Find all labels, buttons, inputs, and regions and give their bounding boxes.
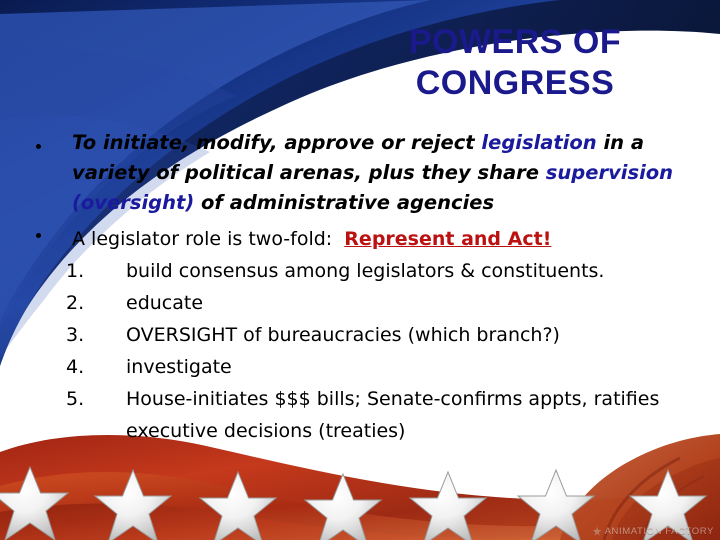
slide-title: POWERS OF CONGRESS [330, 22, 700, 105]
list-item-number: 2. [96, 287, 126, 319]
bullet-dot-icon [36, 233, 41, 238]
slide-body: To initiate, modify, approve or reject l… [0, 128, 720, 447]
list-item: 4.investigate [0, 351, 720, 383]
title-line-1: POWERS OF [330, 22, 700, 63]
bullet-dot-icon [36, 144, 41, 149]
list-item-label: OVERSIGHT of bureaucracies (which branch… [126, 324, 560, 346]
list-item-number: 4. [96, 351, 126, 383]
slide-canvas: POWERS OF CONGRESS To initiate, modify, … [0, 0, 720, 540]
bullet-item-1: To initiate, modify, approve or reject l… [0, 128, 720, 218]
list-item-label: House-initiates $$$ bills; Senate-confir… [126, 388, 659, 442]
list-item: 1.build consensus among legislators & co… [0, 255, 720, 287]
bullet-2-seg-represent-and-act: Represent and Act! [344, 228, 551, 250]
bullet-1-seg-legislation: legislation [481, 131, 596, 154]
bullet-2-seg-0: A legislator role is two-fold: [72, 228, 344, 250]
numbered-list: 1.build consensus among legislators & co… [0, 255, 720, 447]
list-item-number: 3. [96, 319, 126, 351]
list-item-label: educate [126, 292, 203, 314]
list-item-number: 5. [96, 383, 126, 415]
watermark: ANIMATION FACTORY [593, 526, 714, 537]
watermark-text: ANIMATION FACTORY [605, 526, 714, 537]
title-line-2: CONGRESS [330, 63, 700, 104]
bullet-1-seg-4: of administrative agencies [194, 191, 494, 214]
list-item-label: build consensus among legislators & cons… [126, 260, 604, 282]
bullet-1-text: To initiate, modify, approve or reject l… [0, 128, 720, 218]
bullet-item-2: A legislator role is two-fold: Represent… [0, 218, 720, 255]
list-item-number: 1. [96, 255, 126, 287]
list-item: 5.House-initiates $$$ bills; Senate-conf… [0, 383, 720, 447]
slide-content: POWERS OF CONGRESS To initiate, modify, … [0, 0, 720, 540]
bullet-2-text: A legislator role is two-fold: Represent… [0, 218, 720, 255]
list-item: 3.OVERSIGHT of bureaucracies (which bran… [0, 319, 720, 351]
list-item: 2.educate [0, 287, 720, 319]
bullet-1-seg-0: To initiate, modify, approve or reject [72, 131, 481, 154]
list-item-label: investigate [126, 356, 232, 378]
star-logo-icon [593, 527, 602, 537]
